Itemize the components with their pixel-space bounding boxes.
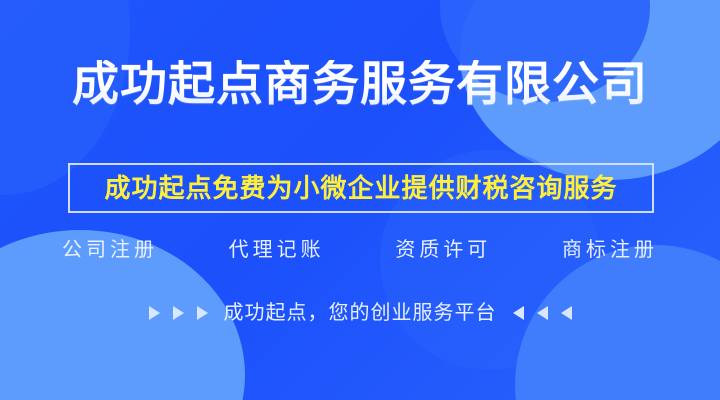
nav-item-qualification-license[interactable]: 资质许可 — [395, 240, 491, 260]
right-arrow-group — [513, 306, 572, 320]
tagline-row: 成功起点，您的创业服务平台 — [0, 303, 720, 323]
nav-item-bookkeeping-agency[interactable]: 代理记账 — [229, 240, 325, 260]
company-title: 成功起点商务服务有限公司 — [0, 60, 720, 107]
nav-item-trademark-registration[interactable]: 商标注册 — [562, 240, 658, 260]
banner-content: 成功起点商务服务有限公司 成功起点免费为小微企业提供财税咨询服务 公司注册 代理… — [0, 0, 720, 400]
triangle-left-icon — [561, 306, 572, 320]
tagline-text: 成功起点，您的创业服务平台 — [224, 303, 497, 323]
nav-item-company-registration[interactable]: 公司注册 — [62, 240, 158, 260]
subtitle-text: 成功起点免费为小微企业提供财税咨询服务 — [104, 175, 617, 201]
left-arrow-group — [149, 306, 208, 320]
triangle-right-icon — [149, 306, 160, 320]
service-nav: 公司注册 代理记账 资质许可 商标注册 — [62, 240, 658, 260]
triangle-right-icon — [197, 306, 208, 320]
promo-banner: 成功起点商务服务有限公司 成功起点免费为小微企业提供财税咨询服务 公司注册 代理… — [0, 0, 720, 400]
triangle-left-icon — [513, 306, 524, 320]
subtitle-box: 成功起点免费为小微企业提供财税咨询服务 — [68, 163, 654, 213]
triangle-left-icon — [537, 306, 548, 320]
triangle-right-icon — [173, 306, 184, 320]
